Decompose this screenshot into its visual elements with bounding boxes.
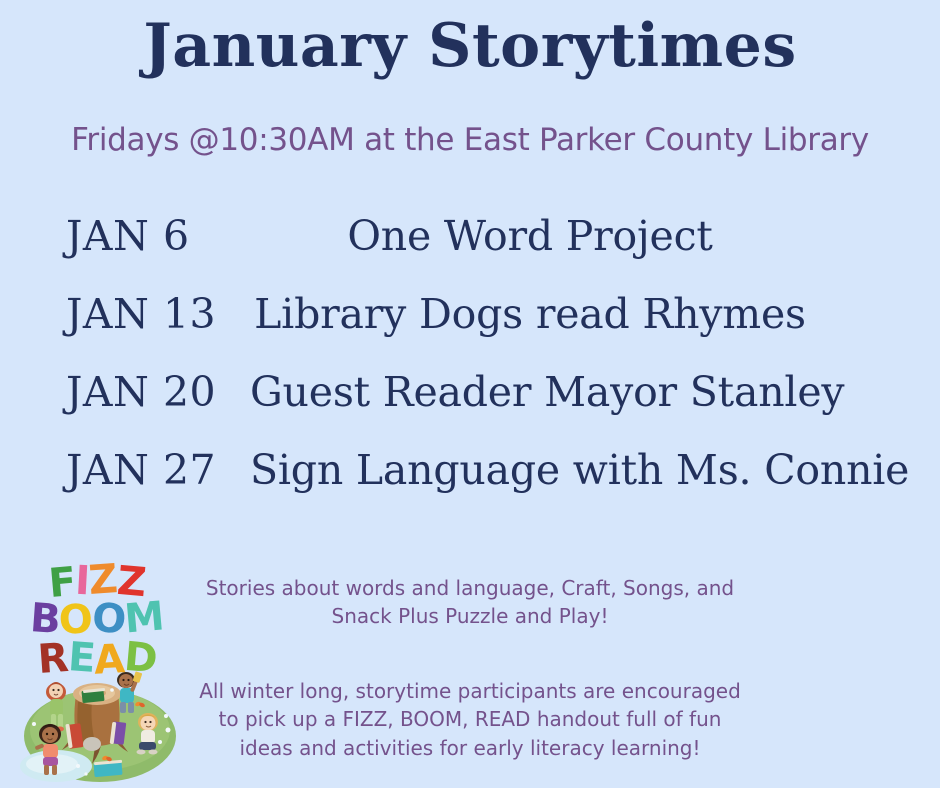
schedule-date: JAN 20	[66, 372, 216, 413]
handout-blurb: All winter long, storytime participants …	[196, 677, 744, 762]
schedule-row: JAN 6 One Word Project	[0, 216, 940, 294]
schedule-date: JAN 6	[66, 216, 190, 257]
schedule-event: Library Dogs read Rhymes	[250, 294, 810, 335]
wordmark-line-boom: BOOM	[8, 600, 186, 638]
wordmark-letter: O	[91, 599, 127, 640]
poster-subtitle: Fridays @10:30AM at the East Parker Coun…	[0, 123, 940, 157]
schedule-date: JAN 27	[66, 450, 216, 491]
wordmark-letter: A	[93, 640, 125, 680]
schedule-event: Sign Language with Ms. Connie	[250, 450, 810, 491]
schedule-event: One Word Project	[250, 216, 810, 257]
schedule-date: JAN 13	[66, 294, 216, 335]
wordmark-line-read: READ	[8, 639, 186, 677]
schedule-event: Guest Reader Mayor Stanley	[250, 372, 810, 413]
schedule-row: JAN 20 Guest Reader Mayor Stanley	[0, 372, 940, 450]
activities-blurb: Stories about words and language, Craft,…	[196, 574, 744, 631]
schedule-row: JAN 27 Sign Language with Ms. Connie	[0, 450, 940, 528]
wordmark-letter: R	[36, 639, 68, 679]
page-title: January Storytimes	[0, 14, 940, 79]
schedule-row: JAN 13 Library Dogs read Rhymes	[0, 294, 940, 372]
wordmark-letter: D	[123, 637, 158, 678]
fizz-boom-read-wordmark: FIZZ BOOM READ	[8, 562, 186, 677]
schedule-list: JAN 6 One Word Project JAN 13 Library Do…	[0, 216, 940, 528]
storytime-poster: January Storytimes Fridays @10:30AM at t…	[0, 0, 940, 788]
wordmark-letter: Z	[87, 560, 118, 600]
wordmark-letter: B	[29, 599, 61, 639]
fizz-boom-read-logo: FIZZ BOOM READ	[8, 562, 186, 788]
wordmark-letter: E	[67, 638, 96, 678]
